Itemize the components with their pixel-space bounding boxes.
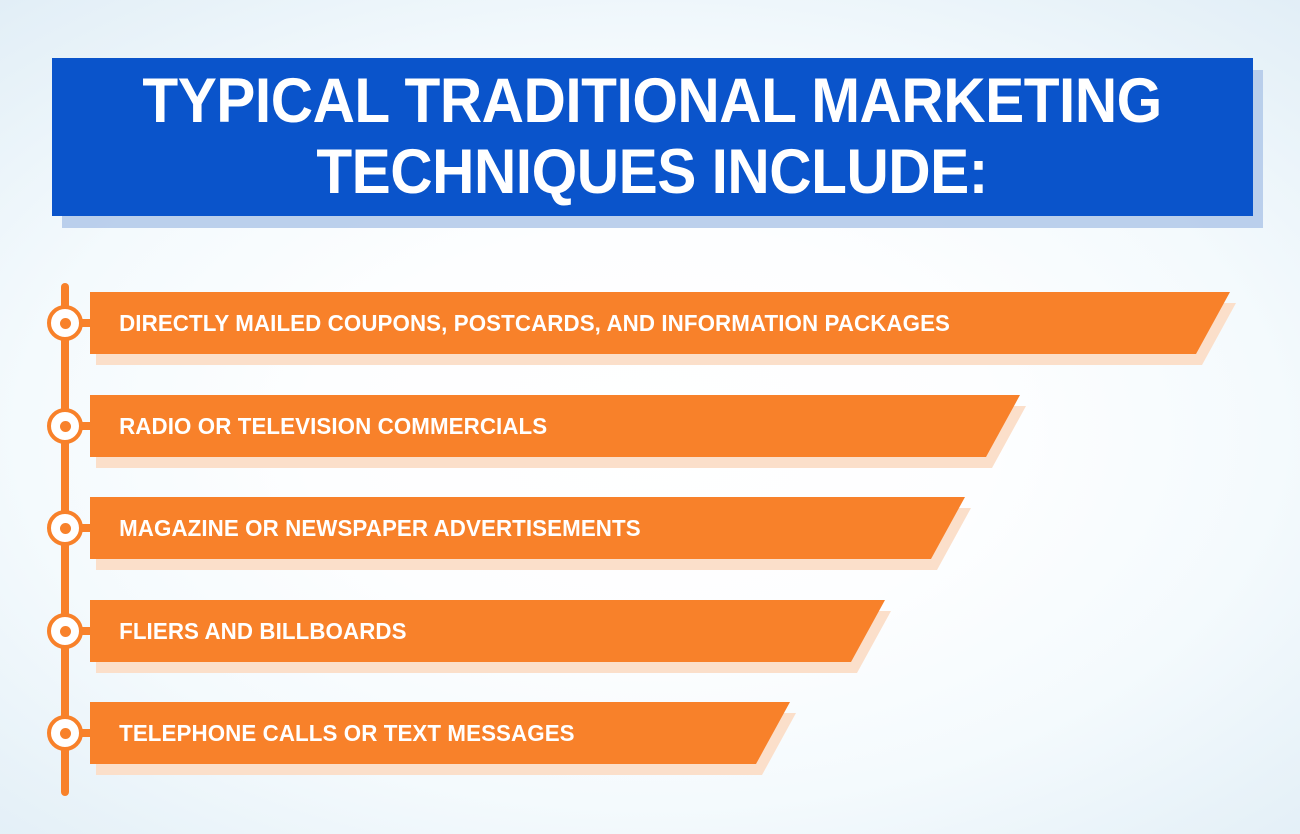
- list-item-label: Radio or television commercials: [90, 413, 547, 440]
- title-banner: Typical Traditional Marketing Techniques…: [52, 58, 1253, 216]
- list-item-label: Fliers and billboards: [90, 618, 407, 645]
- list-item-label: Directly mailed coupons, postcards, and …: [90, 310, 950, 337]
- page-title: Typical Traditional Marketing Techniques…: [120, 66, 1184, 207]
- list-item-bar[interactable]: Magazine or newspaper advertisements: [90, 497, 965, 559]
- list-item-bar[interactable]: Radio or television commercials: [90, 395, 1020, 457]
- list-item-bar[interactable]: Telephone calls or text messages: [90, 702, 790, 764]
- list-item[interactable]: Fliers and billboards: [90, 600, 885, 662]
- timeline-marker-dot-icon: [47, 510, 83, 546]
- list-item-label: Magazine or newspaper advertisements: [90, 515, 641, 542]
- list-item-label: Telephone calls or text messages: [90, 720, 575, 747]
- list-item-bar[interactable]: Fliers and billboards: [90, 600, 885, 662]
- list-item[interactable]: Magazine or newspaper advertisements: [90, 497, 965, 559]
- timeline-marker-dot-icon: [47, 408, 83, 444]
- timeline-marker-dot-icon: [47, 715, 83, 751]
- infographic-canvas: Typical Traditional Marketing Techniques…: [0, 0, 1300, 834]
- timeline-marker-dot-icon: [47, 305, 83, 341]
- list-item[interactable]: Telephone calls or text messages: [90, 702, 790, 764]
- list-item[interactable]: Radio or television commercials: [90, 395, 1020, 457]
- list-item[interactable]: Directly mailed coupons, postcards, and …: [90, 292, 1230, 354]
- timeline-marker-dot-icon: [47, 613, 83, 649]
- title-banner-body: Typical Traditional Marketing Techniques…: [52, 58, 1253, 216]
- list-item-bar[interactable]: Directly mailed coupons, postcards, and …: [90, 292, 1230, 354]
